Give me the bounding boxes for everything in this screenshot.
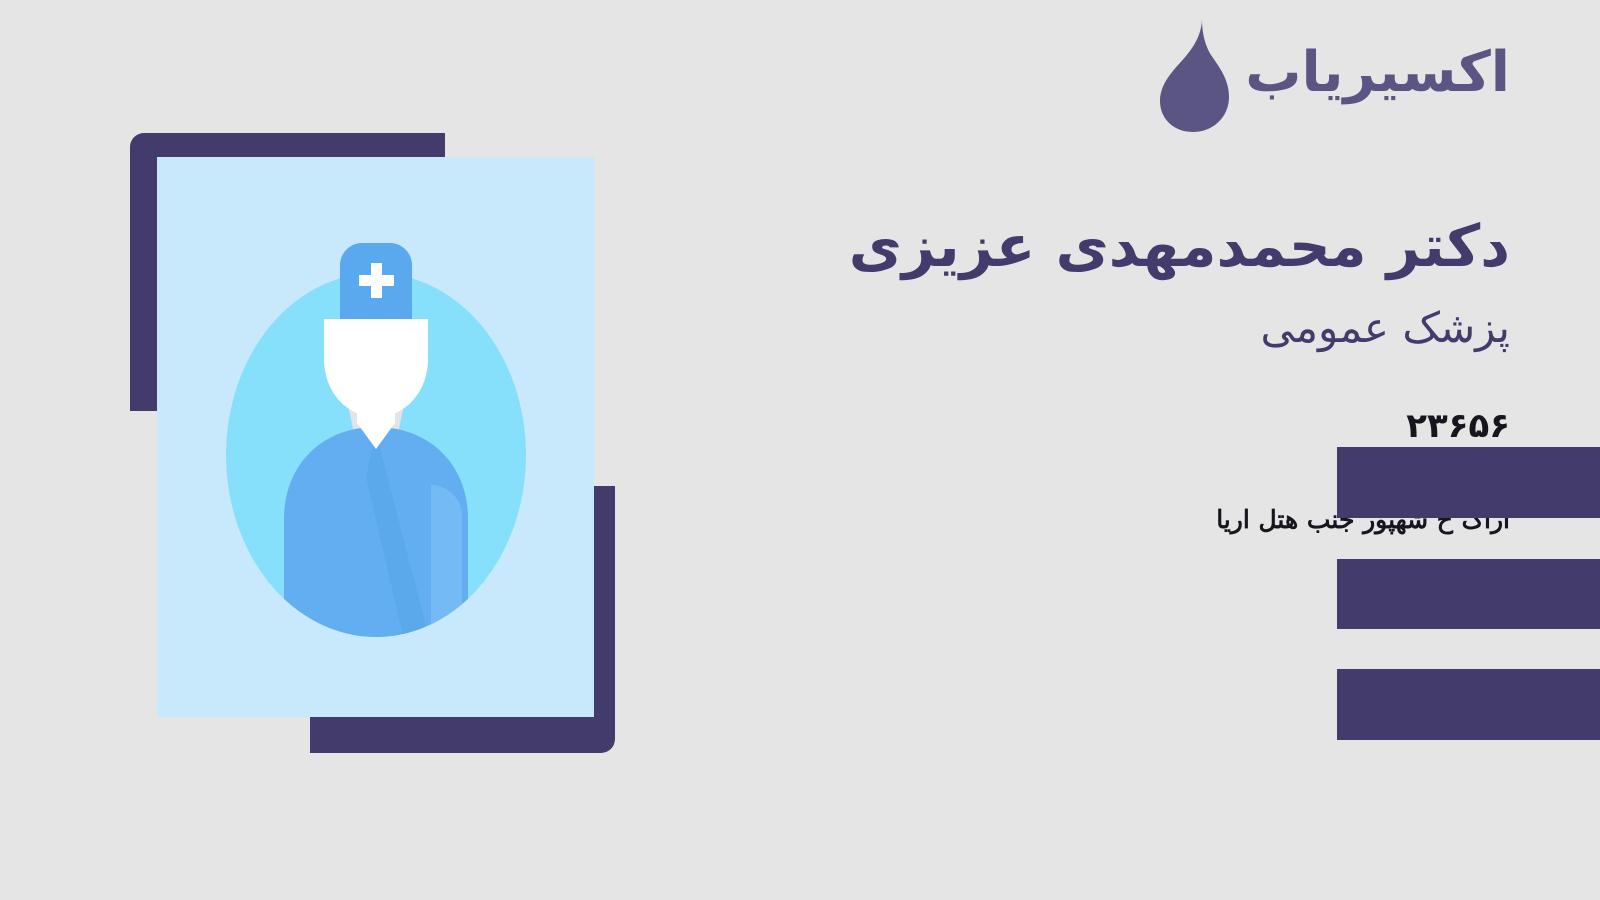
doctor-photo-block — [130, 133, 615, 753]
doctor-code: ۲۳۶۵۶ — [710, 409, 1510, 443]
brand-name: اکسیریاب — [1245, 45, 1510, 107]
flame-icon — [1151, 18, 1237, 134]
profile-card-page: اکسیریاب — [0, 0, 1600, 900]
accent-bar-3 — [1337, 669, 1600, 740]
doctor-name: دکتر محمدمهدی عزیزی — [710, 210, 1510, 283]
brand-logo: اکسیریاب — [1151, 18, 1510, 134]
avatar-card — [157, 157, 594, 717]
doctor-specialty: پزشک عمومی — [710, 301, 1510, 356]
accent-bar-2 — [1337, 559, 1600, 629]
accent-bar-1 — [1337, 447, 1600, 518]
doctor-avatar-icon — [226, 237, 526, 637]
